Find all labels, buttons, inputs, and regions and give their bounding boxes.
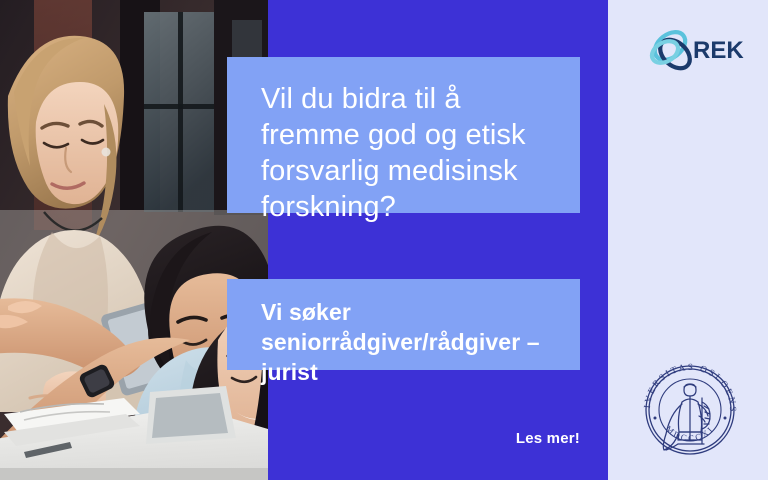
- job-title-box: Vi søker seniorrådgiver/rådgiver – juris…: [227, 279, 580, 370]
- job-title-text: Vi søker seniorrådgiver/rådgiver – juris…: [261, 297, 554, 387]
- read-more-link[interactable]: Les mer!: [420, 430, 580, 447]
- headline-box: Vil du bidra til å fremme god og etisk f…: [227, 57, 580, 213]
- uio-seal: UNIVERSITAS OSLOENSIS MDCCCXI: [638, 358, 742, 462]
- rek-logo[interactable]: REK: [648, 24, 744, 76]
- headline-text: Vil du bidra til å fremme god og etisk f…: [261, 81, 550, 225]
- rek-wordmark: REK: [693, 37, 744, 64]
- recruitment-banner: Vil du bidra til å fremme god og etisk f…: [0, 0, 768, 480]
